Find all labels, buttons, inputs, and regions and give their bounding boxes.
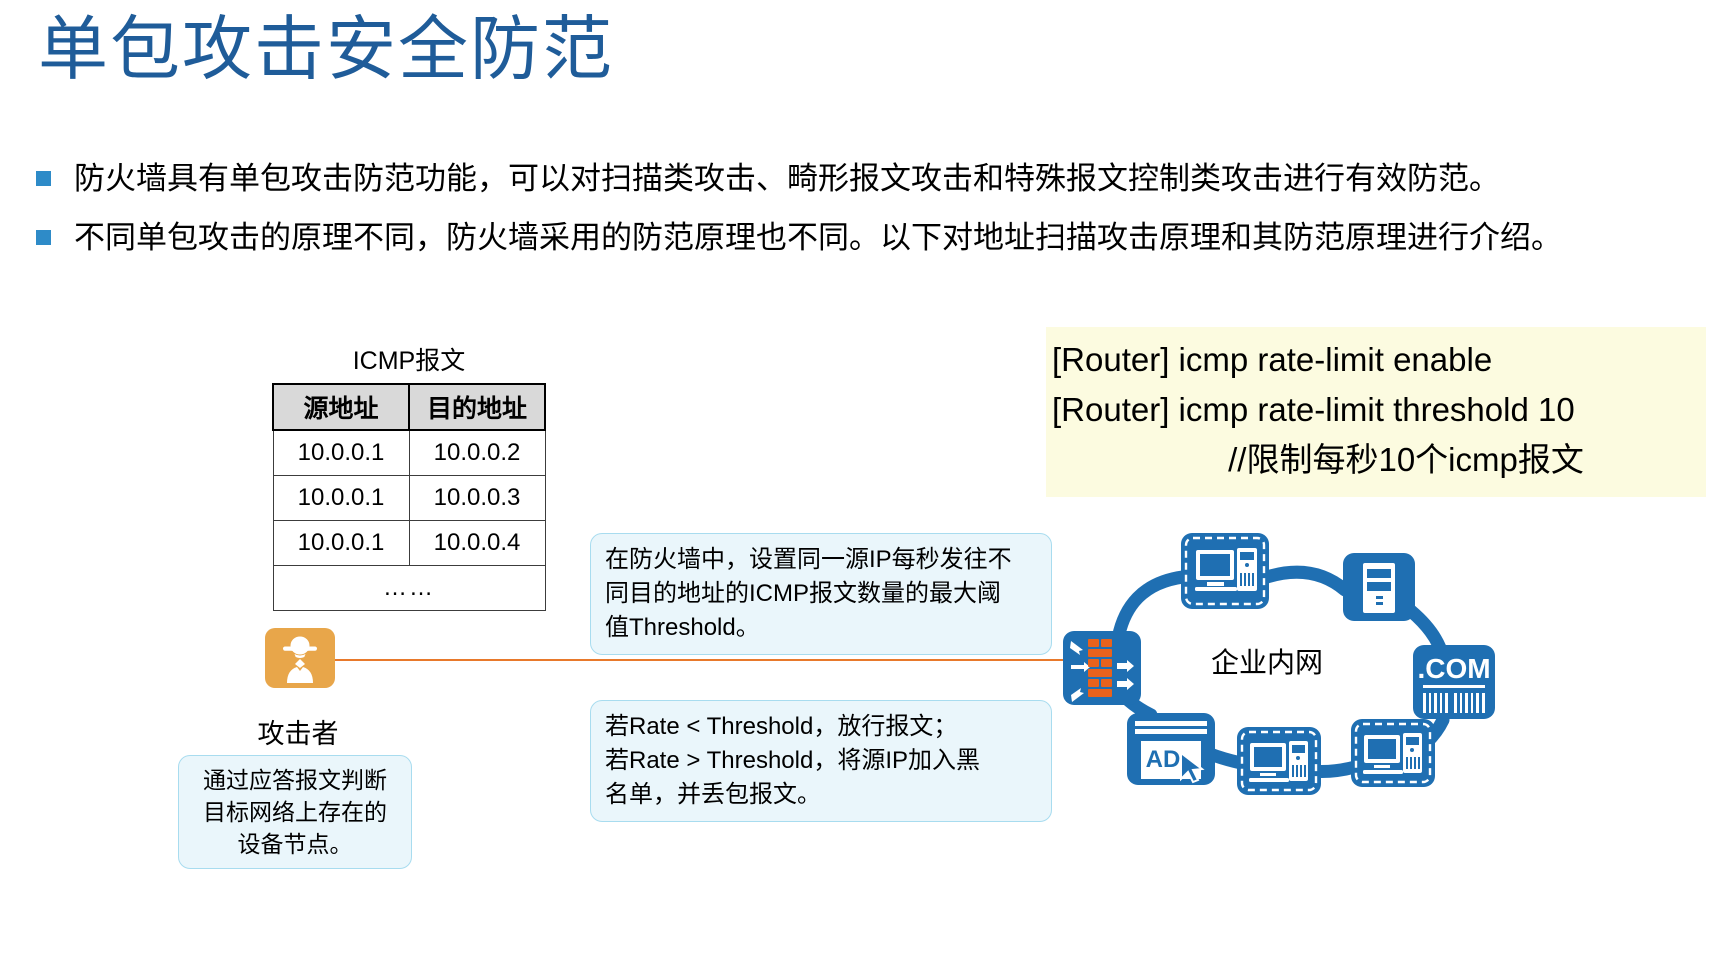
cell-source: 10.0.0.1	[273, 476, 409, 521]
column-header-destination: 目的地址	[409, 384, 545, 430]
callout-rate-line-2: 若Rate > Threshold，将源IP加入黑	[605, 744, 1039, 778]
cell-source: 10.0.0.1	[273, 521, 409, 566]
cell-destination: 10.0.0.2	[409, 430, 545, 476]
command-comment: //限制每秒10个icmp报文	[1052, 435, 1700, 485]
link-pc-top-server	[1267, 572, 1345, 590]
bullet-item-1: 防火墙具有单包攻击防范功能，可以对扫描类攻击、畸形报文攻击和特殊报文控制类攻击进…	[34, 150, 1689, 207]
bullet-marker-icon	[36, 171, 51, 186]
firewall-icon	[1063, 631, 1141, 705]
pc-top-icon	[1181, 533, 1269, 609]
cell-destination: 10.0.0.3	[409, 476, 545, 521]
callout-rate-line-3: 名单，并丢包报文。	[605, 778, 1039, 812]
slide-canvas: 单包攻击安全防范 防火墙具有单包攻击防范功能，可以对扫描类攻击、畸形报文攻击和特…	[0, 0, 1711, 959]
attack-path-line	[333, 659, 1068, 661]
callout-rate-line-1: 若Rate < Threshold，放行报文；	[605, 710, 1039, 744]
icmp-packet-table-block: ICMP报文 源地址 目的地址 10.0.0.1 10.0.0.2 10.0.0…	[272, 345, 546, 611]
callout-threshold-line-2: 同目的地址的ICMP报文数量的最大阈	[605, 577, 1039, 611]
svg-text:.COM: .COM	[1417, 653, 1490, 684]
command-line-2: [Router] icmp rate-limit threshold 10	[1052, 385, 1700, 435]
hacker-icon	[265, 628, 335, 688]
callout-attacker-line-1: 通过应答报文判断	[185, 764, 405, 796]
pc-bottom-right-icon	[1351, 719, 1435, 787]
icmp-table-caption: ICMP报文	[272, 345, 546, 377]
callout-threshold: 在防火墙中，设置同一源IP每秒发往不 同目的地址的ICMP报文数量的最大阈 值T…	[590, 533, 1052, 655]
column-header-source: 源地址	[273, 384, 409, 430]
svg-text:AD: AD	[1146, 746, 1181, 773]
bullet-text-2: 不同单包攻击的原理不同，防火墙采用的防范原理也不同。以下对地址扫描攻击原理和其防…	[74, 220, 1562, 255]
table-row: 10.0.0.1 10.0.0.3	[273, 476, 545, 521]
bullet-list: 防火墙具有单包攻击防范功能，可以对扫描类攻击、畸形报文攻击和特殊报文控制类攻击进…	[34, 150, 1689, 268]
bullet-marker-icon	[36, 230, 51, 245]
pc-bottom-middle-icon	[1237, 727, 1321, 795]
callout-attacker-note: 通过应答报文判断 目标网络上存在的 设备节点。	[178, 755, 412, 869]
command-line-1: [Router] icmp rate-limit enable	[1052, 335, 1700, 385]
table-row-ellipsis: ……	[273, 566, 545, 611]
page-title: 单包攻击安全防范	[38, 8, 614, 94]
bullet-item-2: 不同单包攻击的原理不同，防火墙采用的防范原理也不同。以下对地址扫描攻击原理和其防…	[34, 209, 1689, 266]
callout-attacker-line-2: 目标网络上存在的	[185, 796, 405, 828]
ad-server-icon: AD	[1127, 713, 1215, 785]
callout-threshold-line-1: 在防火墙中，设置同一源IP每秒发往不	[605, 543, 1039, 577]
cell-source: 10.0.0.1	[273, 430, 409, 476]
cell-destination: 10.0.0.4	[409, 521, 545, 566]
callout-rate-rule: 若Rate < Threshold，放行报文； 若Rate > Threshol…	[590, 700, 1052, 822]
callout-threshold-line-3: 值Threshold。	[605, 611, 1039, 645]
callout-attacker-line-3: 设备节点。	[185, 828, 405, 860]
domain-com-icon: .COM	[1413, 645, 1495, 719]
icmp-packet-table: 源地址 目的地址 10.0.0.1 10.0.0.2 10.0.0.1 10.0…	[272, 383, 546, 611]
attacker-label: 攻击者	[218, 712, 378, 751]
table-header-row: 源地址 目的地址	[273, 384, 545, 430]
intranet-label: 企业内网	[1211, 641, 1323, 681]
router-command-box: [Router] icmp rate-limit enable [Router]…	[1046, 327, 1706, 497]
table-row: 10.0.0.1 10.0.0.2	[273, 430, 545, 476]
table-row: 10.0.0.1 10.0.0.4	[273, 521, 545, 566]
server-icon	[1343, 553, 1415, 621]
cell-ellipsis: ……	[273, 566, 545, 611]
bullet-text-1: 防火墙具有单包攻击防范功能，可以对扫描类攻击、畸形报文攻击和特殊报文控制类攻击进…	[74, 161, 1500, 196]
